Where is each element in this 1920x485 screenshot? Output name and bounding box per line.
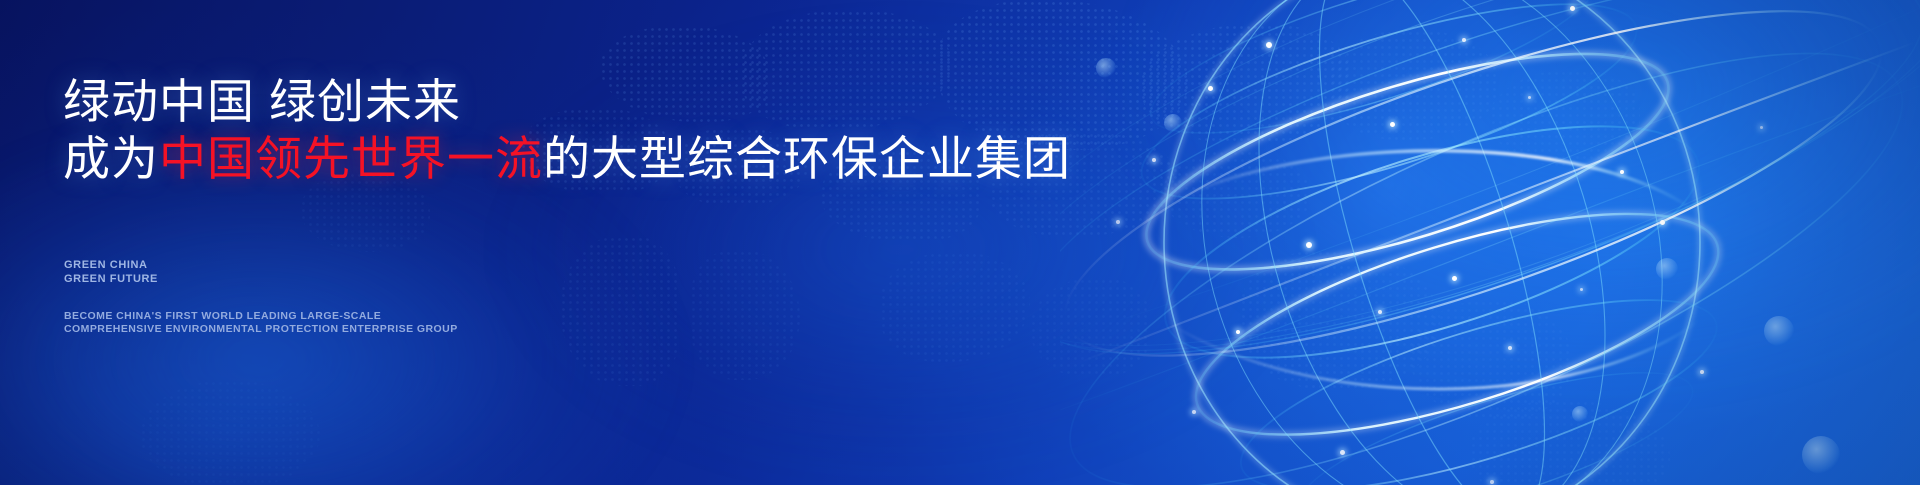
headline-line-1: 绿动中国 绿创未来 xyxy=(63,78,461,125)
headline-line-2: 成为中国领先世界一流的大型综合环保企业集团 xyxy=(63,135,1071,182)
slogan-english-line-2: GREEN FUTURE xyxy=(64,272,158,286)
description-english-line-2: COMPREHENSIVE ENVIRONMENTAL PROTECTION E… xyxy=(64,323,458,336)
headline-line-2-prefix: 成为 xyxy=(63,132,159,185)
headline-line-2-suffix: 的大型综合环保企业集团 xyxy=(543,132,1071,185)
description-english: BECOME CHINA'S FIRST WORLD LEADING LARGE… xyxy=(64,310,458,336)
slogan-english-line-1: GREEN CHINA xyxy=(64,258,158,272)
globe-svg xyxy=(1060,0,1920,485)
banner-copy: 绿动中国 绿创未来 成为中国领先世界一流的大型综合环保企业集团 GREEN CH… xyxy=(58,0,1118,485)
wireframe-globe-icon xyxy=(1060,0,1920,485)
slogan-english: GREEN CHINA GREEN FUTURE xyxy=(64,258,158,286)
description-english-line-1: BECOME CHINA'S FIRST WORLD LEADING LARGE… xyxy=(64,310,458,323)
headline-line-2-highlight: 中国领先世界一流 xyxy=(159,132,543,185)
ambient-glow-topright xyxy=(1150,0,1920,370)
hero-banner: 绿动中国 绿创未来 成为中国领先世界一流的大型综合环保企业集团 GREEN CH… xyxy=(0,0,1920,485)
